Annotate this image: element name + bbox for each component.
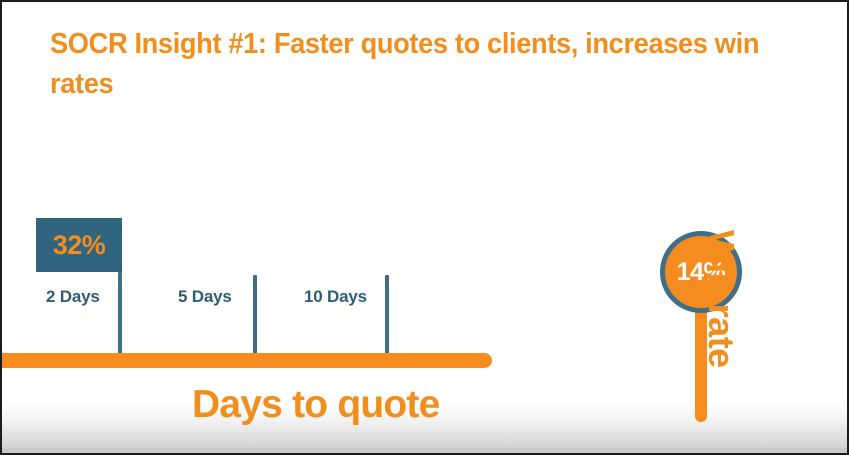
timeline-label-5-days: 5 Days	[178, 287, 232, 307]
flag-value-label: 32%	[53, 232, 106, 259]
timeline-tick-5-days	[253, 275, 257, 354]
win-rate-pin: 14% Win rate	[642, 222, 822, 432]
win-rate-flag-2-days: 32%	[36, 218, 122, 272]
slide-canvas: SOCR Insight #1: Faster quotes to client…	[0, 0, 849, 455]
x-axis-caption: Days to quote	[192, 383, 439, 427]
floor-base-strip	[2, 448, 847, 453]
timeline-label-10-days: 10 Days	[304, 287, 367, 307]
timeline-label-2-days: 2 Days	[46, 287, 100, 307]
timeline-axis-bar	[2, 353, 492, 368]
timeline-tick-2-days	[118, 272, 122, 354]
page-title: SOCR Insight #1: Faster quotes to client…	[50, 24, 764, 104]
win-rate-caption: Win rate	[700, 230, 742, 368]
timeline-tick-10-days	[385, 275, 389, 354]
